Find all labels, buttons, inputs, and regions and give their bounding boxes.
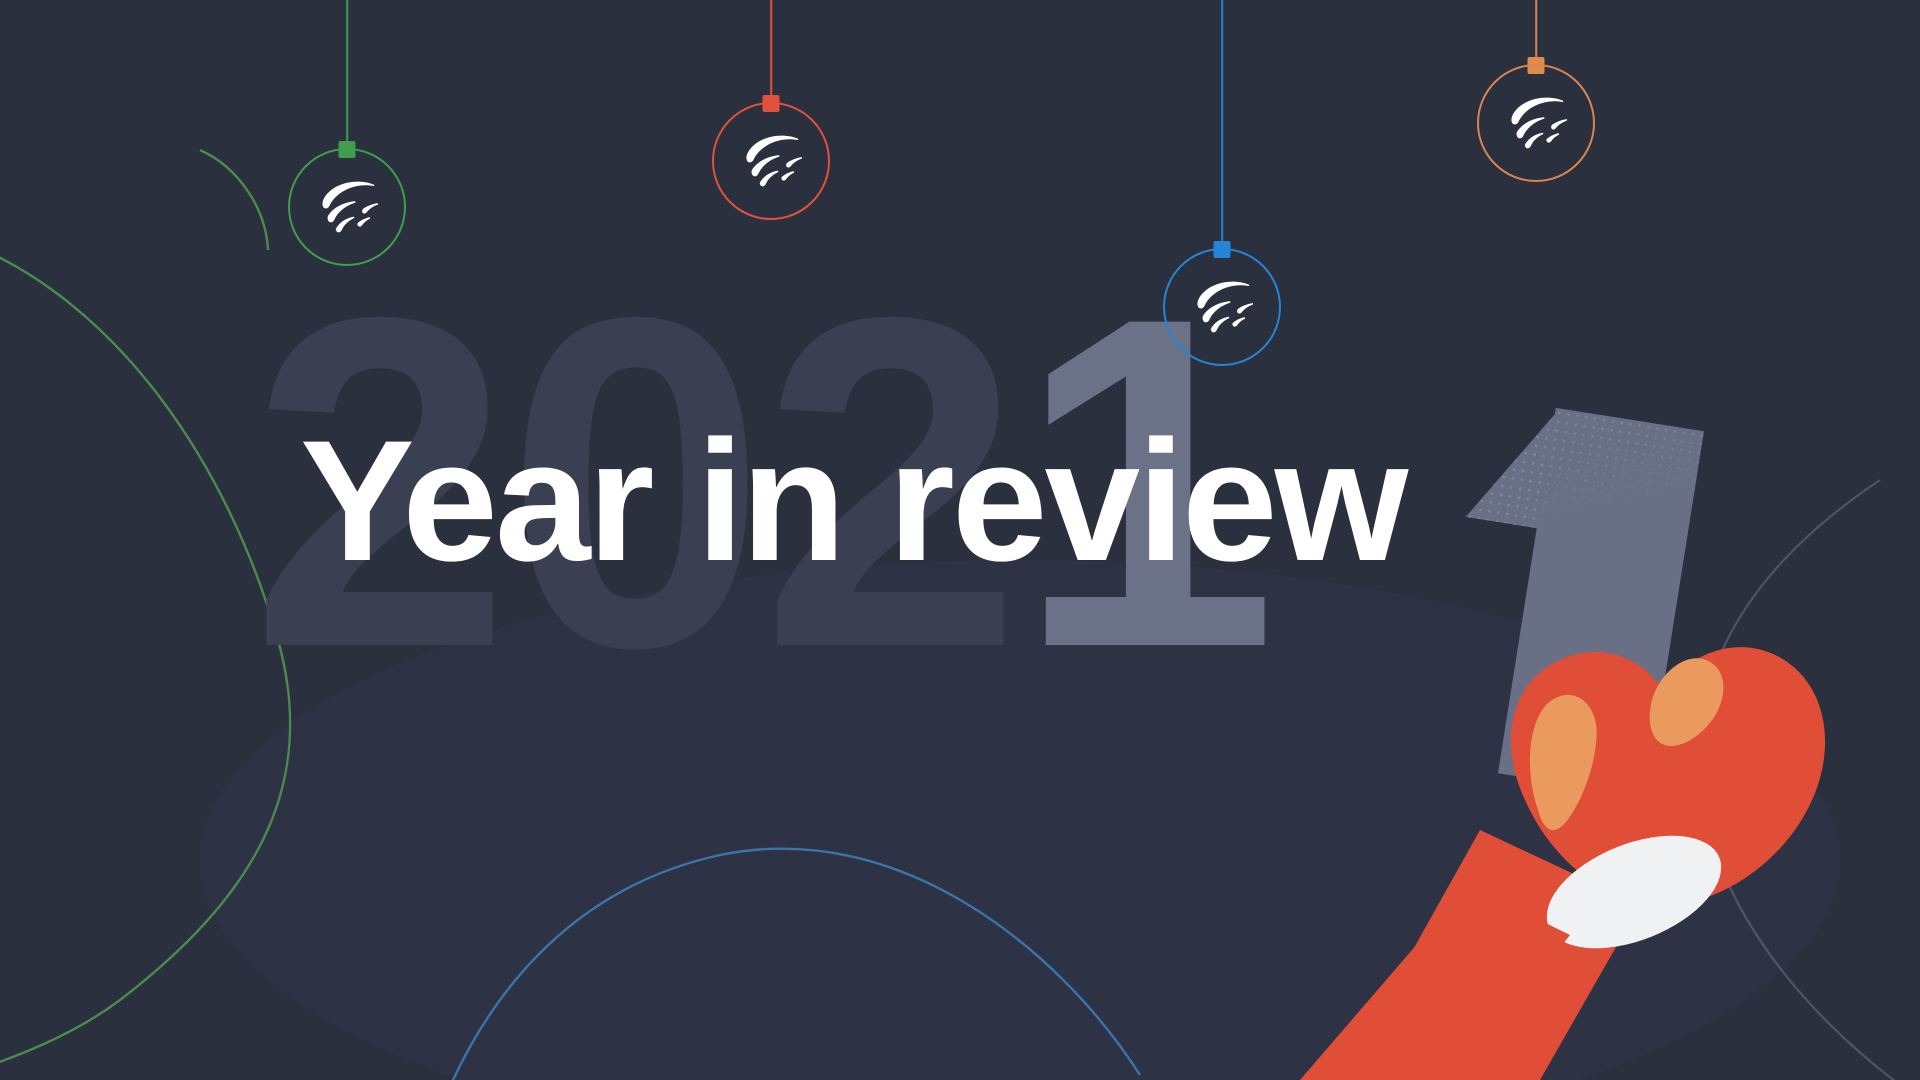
year-in-review-banner: 2021 Year in review [0, 0, 1920, 1080]
santa-arm-illustration [0, 0, 1920, 1080]
